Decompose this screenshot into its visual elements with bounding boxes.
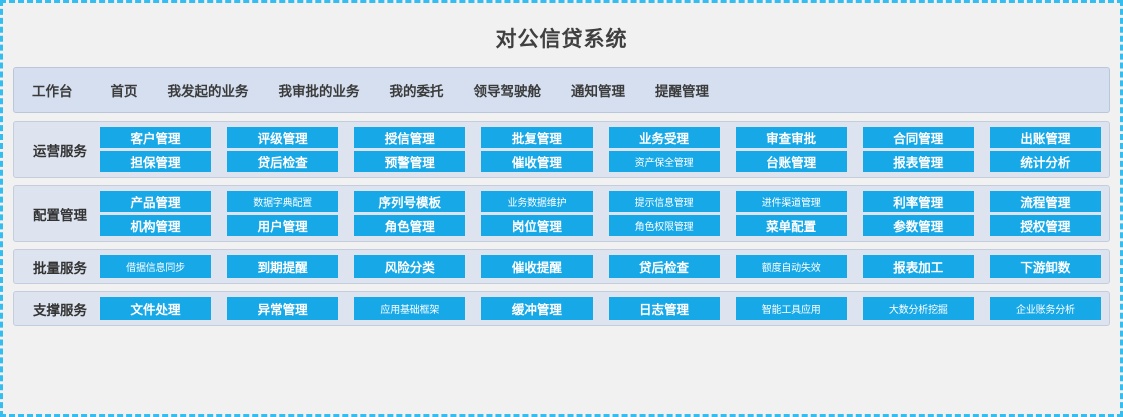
module-button[interactable]: 应用基础框架 [354,297,465,320]
button-row: 产品管理数据字典配置序列号模板业务数据维护提示信息管理进件渠道管理利率管理流程管… [100,191,1101,212]
module-button[interactable]: 业务数据维护 [481,191,592,212]
module-button[interactable]: 报表加工 [863,255,974,278]
nav-item-0[interactable]: 工作台 [32,80,73,100]
module-button[interactable]: 出账管理 [990,127,1101,148]
section-label: 批量服务 [20,257,100,277]
nav-item-6[interactable]: 通知管理 [571,80,625,100]
button-row: 文件处理异常管理应用基础框架缓冲管理日志管理智能工具应用大数分析挖掘企业账务分析 [100,297,1101,320]
module-button[interactable]: 统计分析 [990,151,1101,172]
section-button-grid: 文件处理异常管理应用基础框架缓冲管理日志管理智能工具应用大数分析挖掘企业账务分析 [100,297,1101,320]
module-button[interactable]: 企业账务分析 [990,297,1101,320]
module-button[interactable]: 授权管理 [990,215,1101,236]
module-button[interactable]: 借据信息同步 [100,255,211,278]
module-button[interactable]: 流程管理 [990,191,1101,212]
module-button[interactable]: 担保管理 [100,151,211,172]
module-button[interactable]: 催收提醒 [481,255,592,278]
module-button[interactable]: 催收管理 [481,151,592,172]
module-button[interactable]: 批复管理 [481,127,592,148]
button-row: 机构管理用户管理角色管理岗位管理角色权限管理菜单配置参数管理授权管理 [100,215,1101,236]
module-button[interactable]: 提示信息管理 [609,191,720,212]
section-label: 运营服务 [20,140,100,160]
module-button[interactable]: 额度自动失效 [736,255,847,278]
nav-item-4[interactable]: 我的委托 [390,80,444,100]
section-label: 支撑服务 [20,299,100,319]
module-button[interactable]: 菜单配置 [736,215,847,236]
module-button[interactable]: 预警管理 [354,151,465,172]
module-button[interactable]: 业务受理 [609,127,720,148]
module-button[interactable]: 到期提醒 [227,255,338,278]
section-panel: 批量服务借据信息同步到期提醒风险分类催收提醒贷后检查额度自动失效报表加工下游卸数 [13,249,1110,284]
module-button[interactable]: 数据字典配置 [227,191,338,212]
module-button[interactable]: 台账管理 [736,151,847,172]
module-button[interactable]: 风险分类 [354,255,465,278]
nav-item-2[interactable]: 我发起的业务 [168,80,249,100]
button-row: 客户管理评级管理授信管理批复管理业务受理审查审批合同管理出账管理 [100,127,1101,148]
app-window: 对公信贷系统 工作台首页我发起的业务我审批的业务我的委托领导驾驶舱通知管理提醒管… [0,0,1123,417]
module-button[interactable]: 贷后检查 [227,151,338,172]
section-button-grid: 客户管理评级管理授信管理批复管理业务受理审查审批合同管理出账管理担保管理贷后检查… [100,127,1101,172]
module-button[interactable]: 角色权限管理 [609,215,720,236]
main-navigation: 工作台首页我发起的业务我审批的业务我的委托领导驾驶舱通知管理提醒管理 [13,67,1110,113]
module-button[interactable]: 机构管理 [100,215,211,236]
module-button[interactable]: 产品管理 [100,191,211,212]
section-button-grid: 产品管理数据字典配置序列号模板业务数据维护提示信息管理进件渠道管理利率管理流程管… [100,191,1101,236]
module-button[interactable]: 岗位管理 [481,215,592,236]
module-button[interactable]: 日志管理 [609,297,720,320]
page-title: 对公信贷系统 [496,23,628,53]
module-button[interactable]: 授信管理 [354,127,465,148]
module-button[interactable]: 评级管理 [227,127,338,148]
module-button[interactable]: 进件渠道管理 [736,191,847,212]
nav-item-7[interactable]: 提醒管理 [655,80,709,100]
module-button[interactable]: 大数分析挖掘 [863,297,974,320]
title-bar: 对公信贷系统 [13,9,1110,67]
module-sections: 运营服务客户管理评级管理授信管理批复管理业务受理审查审批合同管理出账管理担保管理… [13,121,1110,326]
module-button[interactable]: 下游卸数 [990,255,1101,278]
section-button-grid: 借据信息同步到期提醒风险分类催收提醒贷后检查额度自动失效报表加工下游卸数 [100,255,1101,278]
module-button[interactable]: 资产保全管理 [609,151,720,172]
module-button[interactable]: 合同管理 [863,127,974,148]
button-row: 借据信息同步到期提醒风险分类催收提醒贷后检查额度自动失效报表加工下游卸数 [100,255,1101,278]
section-panel: 运营服务客户管理评级管理授信管理批复管理业务受理审查审批合同管理出账管理担保管理… [13,121,1110,178]
module-button[interactable]: 缓冲管理 [481,297,592,320]
module-button[interactable]: 贷后检查 [609,255,720,278]
module-button[interactable]: 角色管理 [354,215,465,236]
nav-item-5[interactable]: 领导驾驶舱 [474,80,542,100]
button-row: 担保管理贷后检查预警管理催收管理资产保全管理台账管理报表管理统计分析 [100,151,1101,172]
module-button[interactable]: 参数管理 [863,215,974,236]
module-button[interactable]: 利率管理 [863,191,974,212]
section-panel: 配置管理产品管理数据字典配置序列号模板业务数据维护提示信息管理进件渠道管理利率管… [13,185,1110,242]
module-button[interactable]: 智能工具应用 [736,297,847,320]
module-button[interactable]: 异常管理 [227,297,338,320]
section-panel: 支撑服务文件处理异常管理应用基础框架缓冲管理日志管理智能工具应用大数分析挖掘企业… [13,291,1110,326]
module-button[interactable]: 序列号模板 [354,191,465,212]
module-button[interactable]: 用户管理 [227,215,338,236]
module-button[interactable]: 审查审批 [736,127,847,148]
module-button[interactable]: 报表管理 [863,151,974,172]
module-button[interactable]: 文件处理 [100,297,211,320]
section-label: 配置管理 [20,204,100,224]
module-button[interactable]: 客户管理 [100,127,211,148]
nav-item-1[interactable]: 首页 [111,80,138,100]
nav-item-3[interactable]: 我审批的业务 [279,80,360,100]
